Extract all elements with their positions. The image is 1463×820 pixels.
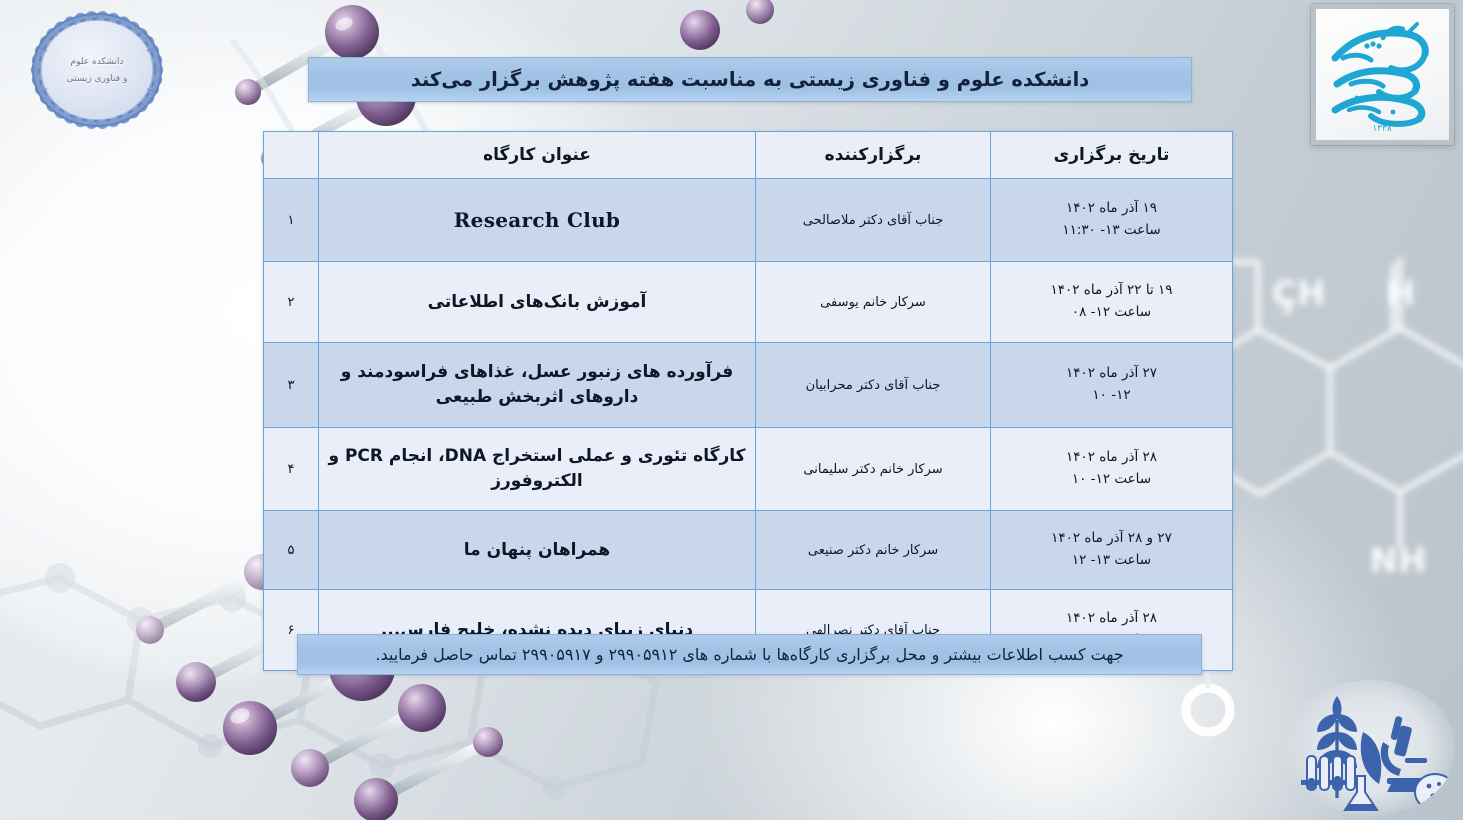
column-header-number (264, 132, 319, 179)
cell-row-number: ۴ (264, 428, 319, 511)
table-row: ۲۷ آذر ماه ۱۴۰۲ ۱۲- ۱۰ جناب آقای دکتر مح… (264, 343, 1233, 428)
cell-date: ۲۷ و ۲۸ آذر ماه ۱۴۰۲ ساعت ۱۳- ۱۲ (991, 511, 1233, 590)
table-row: ۲۸ آذر ماه ۱۴۰۲ ساعت ۱۲- ۱۰ سرکار خانم د… (264, 428, 1233, 511)
science-illustration-icon (1287, 680, 1455, 816)
column-header-host: برگزارکننده (756, 132, 991, 179)
svg-text:H: H (1387, 274, 1415, 314)
cell-row-number: ۱ (264, 179, 319, 262)
cell-workshop-title: آموزش بانک‌های اطلاعاتی (319, 262, 756, 343)
science-illustration (1287, 680, 1455, 816)
cell-date: ۱۹ آذر ماه ۱۴۰۲ ساعت ۱۳- ۱۱:۳۰ (991, 179, 1233, 262)
contact-banner: جهت کسب اطلاعات بیشتر و محل برگزاری کارگ… (297, 634, 1202, 675)
column-header-title: عنوان کارگاه (319, 132, 756, 179)
cell-host: جناب آقای دکتر ملاصالحی (756, 179, 991, 262)
faculty-seal: دانشکده علوم و فناوری زیستی (12, 8, 182, 134)
cell-workshop-title: همراهان پنهان ما (319, 511, 756, 590)
date-line-1: ۲۸ آذر ماه ۱۴۰۲ (999, 608, 1224, 630)
date-line-1: ۲۸ آذر ماه ۱۴۰۲ (999, 447, 1224, 469)
cell-row-number: ۵ (264, 511, 319, 590)
cell-workshop-title: فرآورده های زنبور عسل، غذاهای فراسودمند … (319, 343, 756, 428)
column-header-date: تاریخ برگزاری (991, 132, 1233, 179)
title-banner: دانشکده علوم و فناوری زیستی به مناسبت هف… (308, 57, 1192, 102)
table-header-row: تاریخ برگزاری برگزارکننده عنوان کارگاه (264, 132, 1233, 179)
table-header: تاریخ برگزاری برگزارکننده عنوان کارگاه (264, 132, 1233, 179)
cell-workshop-title: کارگاه تئوری و عملی استخراج DNA، انجام P… (319, 428, 756, 511)
svg-text:NH: NH (1370, 541, 1427, 581)
university-logo-year: ۱۳۳۸ (1372, 124, 1392, 134)
cell-host: سرکار خانم دکتر صنیعی (756, 511, 991, 590)
workshop-schedule-table: تاریخ برگزاری برگزارکننده عنوان کارگاه ۱… (263, 131, 1233, 671)
cell-host: جناب آقای دکتر محرابیان (756, 343, 991, 428)
table-row: ۱۹ آذر ماه ۱۴۰۲ ساعت ۱۳- ۱۱:۳۰ جناب آقای… (264, 179, 1233, 262)
cell-workshop-title: Research Club (319, 179, 756, 262)
shahid-beheshti-logo-icon: ۱۳۳۸ (1321, 14, 1444, 135)
date-line-2: ساعت ۱۲- ۱۰ (999, 469, 1224, 491)
table-row: ۲۷ و ۲۸ آذر ماه ۱۴۰۲ ساعت ۱۳- ۱۲ سرکار خ… (264, 511, 1233, 590)
date-line-2: ۱۲- ۱۰ (999, 385, 1224, 407)
poster-canvas: CH 3 H NH (0, 0, 1463, 820)
date-line-2: ساعت ۱۲- ۰۸ (999, 302, 1224, 324)
cell-date: ۱۹ تا ۲۲ آذر ماه ۱۴۰۲ ساعت ۱۲- ۰۸ (991, 262, 1233, 343)
faculty-seal-line2: و فناوری زیستی (67, 74, 128, 84)
faculty-seal-text: دانشکده علوم و فناوری زیستی (12, 54, 182, 88)
university-logo: ۱۳۳۸ (1311, 4, 1454, 145)
chemical-labels: CH 3 H NH (1272, 274, 1426, 581)
faculty-seal-line1: دانشکده علوم (71, 57, 124, 67)
cell-date: ۲۸ آذر ماه ۱۴۰۲ ساعت ۱۲- ۱۰ (991, 428, 1233, 511)
date-line-2: ساعت ۱۳- ۱۱:۳۰ (999, 220, 1224, 242)
date-line-1: ۱۹ آذر ماه ۱۴۰۲ (999, 198, 1224, 220)
svg-text:CH: CH (1272, 274, 1325, 314)
cell-row-number: ۳ (264, 343, 319, 428)
date-line-1: ۲۷ و ۲۸ آذر ماه ۱۴۰۲ (999, 528, 1224, 550)
table-body: ۱۹ آذر ماه ۱۴۰۲ ساعت ۱۳- ۱۱:۳۰ جناب آقای… (264, 179, 1233, 671)
cell-host: سرکار خانم دکتر سلیمانی (756, 428, 991, 511)
table-row: ۱۹ تا ۲۲ آذر ماه ۱۴۰۲ ساعت ۱۲- ۰۸ سرکار … (264, 262, 1233, 343)
date-line-1: ۱۹ تا ۲۲ آذر ماه ۱۴۰۲ (999, 280, 1224, 302)
svg-text:3: 3 (1280, 295, 1294, 319)
date-line-2: ساعت ۱۳- ۱۲ (999, 550, 1224, 572)
cell-row-number: ۲ (264, 262, 319, 343)
date-line-1: ۲۷ آذر ماه ۱۴۰۲ (999, 363, 1224, 385)
cell-date: ۲۷ آذر ماه ۱۴۰۲ ۱۲- ۱۰ (991, 343, 1233, 428)
cell-host: سرکار خانم یوسفی (756, 262, 991, 343)
